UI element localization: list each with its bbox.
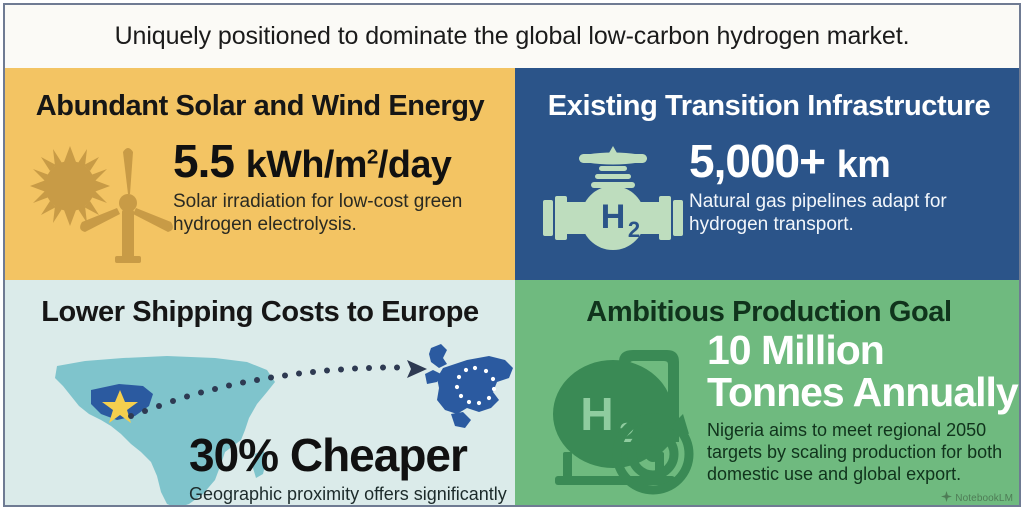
card-production-goal-stat: 10 Million Tonnes Annually — [707, 330, 1021, 414]
card-production-goal-text: 10 Million Tonnes Annually Nigeria aims … — [707, 330, 1021, 485]
notebooklm-spark-icon — [941, 491, 952, 505]
card-production-goal-description: Nigeria aims to meet regional 2050 targe… — [707, 420, 1021, 486]
card-pipeline-body: H 2 5,000+ km Natural gas pipelines adap… — [537, 138, 1009, 265]
cards-grid: Abundant Solar and Wind Energy — [5, 68, 1019, 507]
stat-line-1: 10 Million — [707, 327, 884, 373]
card-solar-wind-text: 5.5 kWh/m2/day Solar irradiation for low… — [173, 138, 501, 236]
card-solar-wind-body: 5.5 kWh/m2/day Solar irradiation for low… — [23, 138, 501, 269]
notebooklm-label: NotebookLM — [955, 493, 1013, 504]
card-pipeline: Existing Transition Infrastructure — [515, 68, 1021, 280]
headline-band: Uniquely positioned to dominate the glob… — [5, 5, 1019, 68]
card-solar-wind-stat: 5.5 kWh/m2/day — [173, 138, 501, 184]
stat-unit: km — [837, 143, 891, 185]
card-solar-wind: Abundant Solar and Wind Energy — [5, 68, 515, 280]
svg-text:H: H — [601, 198, 626, 236]
h2-tank-target-icon: H 2 — [537, 342, 709, 507]
card-pipeline-description: Natural gas pipelines adapt for hydrogen… — [689, 190, 1009, 236]
stat-unit-tail: /day — [378, 143, 451, 185]
stat-superscript: 2 — [367, 145, 378, 168]
stat-unit: kWh/m — [246, 143, 367, 185]
card-shipping: Lower Shipping Costs to Europe — [5, 280, 515, 507]
infographic-root: Uniquely positioned to dominate the glob… — [0, 0, 1024, 510]
card-shipping-title: Lower Shipping Costs to Europe — [5, 296, 515, 329]
card-solar-wind-description: Solar irradiation for low-cost green hyd… — [173, 190, 501, 236]
svg-text:H: H — [580, 388, 613, 440]
card-pipeline-text: 5,000+ km Natural gas pipelines adapt fo… — [689, 138, 1009, 236]
card-production-goal-title: Ambitious Production Goal — [515, 296, 1021, 329]
card-shipping-stat: 30% Cheaper — [189, 432, 515, 478]
stat-value: 5,000+ — [689, 135, 825, 187]
card-pipeline-stat: 5,000+ km — [689, 138, 1009, 184]
stat-value: 5.5 — [173, 135, 234, 187]
svg-text:2: 2 — [628, 217, 640, 242]
card-solar-wind-title: Abundant Solar and Wind Energy — [5, 90, 515, 123]
card-production-goal: Ambitious Production Goal — [515, 280, 1021, 507]
notebooklm-watermark: NotebookLM — [941, 491, 1013, 505]
sun-wind-turbine-icon — [23, 138, 173, 269]
pipeline-valve-h2-icon: H 2 — [537, 138, 689, 265]
card-shipping-text: 30% Cheaper Geographic proximity offers … — [189, 432, 515, 507]
page-title: Uniquely positioned to dominate the glob… — [115, 22, 910, 51]
card-shipping-description: Geographic proximity offers significantl… — [189, 484, 515, 507]
card-pipeline-title: Existing Transition Infrastructure — [515, 90, 1021, 123]
infographic-frame: Uniquely positioned to dominate the glob… — [3, 3, 1021, 507]
stat-line-2: Tonnes Annually — [707, 369, 1018, 415]
